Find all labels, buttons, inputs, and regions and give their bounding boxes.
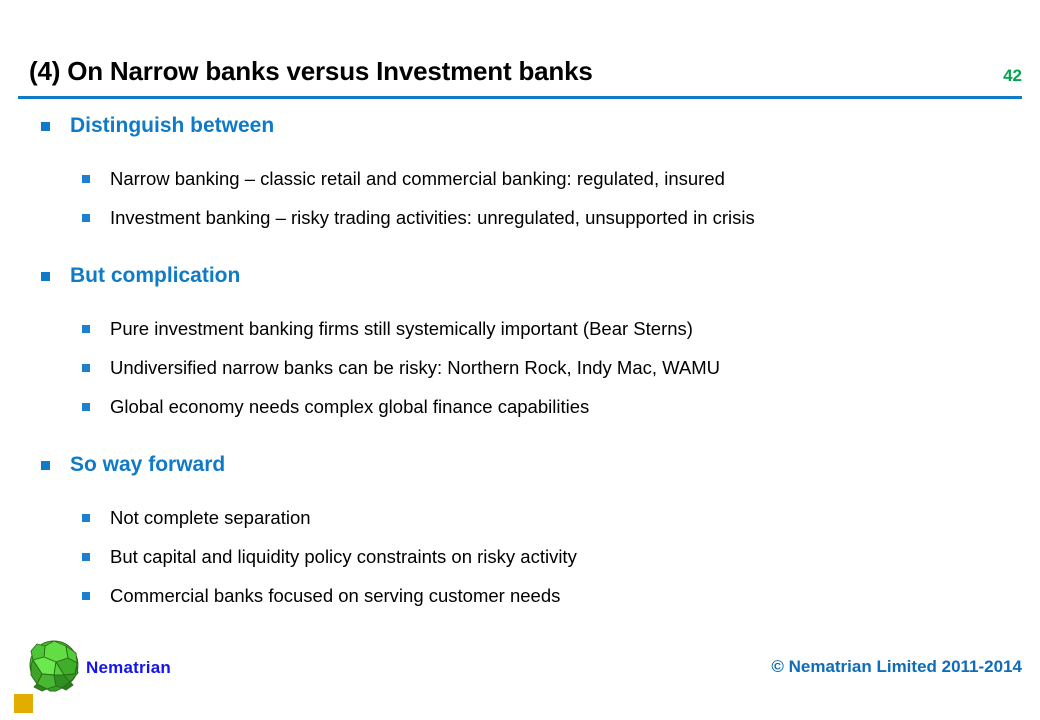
spacer [0,147,1040,159]
spacer [0,486,1040,498]
bullet-group: But complication Pure investment banking… [0,255,1040,426]
bullet-heading-label: But complication [70,264,240,287]
list-item-label: Undiversified narrow banks can be risky:… [110,357,720,378]
list-item: Investment banking – risky trading activ… [0,198,1040,237]
square-sub-bullet-icon [82,553,90,561]
list-item: Commercial banks focused on serving cust… [0,576,1040,615]
spacer [0,426,1040,444]
square-sub-bullet-icon [82,514,90,522]
spacer [0,297,1040,309]
square-sub-bullet-icon [82,175,90,183]
gold-square-icon [14,694,33,713]
title-divider [18,96,1022,99]
square-sub-bullet-icon [82,592,90,600]
bullet-group: So way forward Not complete separation B… [0,444,1040,615]
list-item-label: Pure investment banking firms still syst… [110,318,693,339]
list-item: Pure investment banking firms still syst… [0,309,1040,348]
square-bullet-icon [41,272,50,281]
list-item: Undiversified narrow banks can be risky:… [0,348,1040,387]
bullet-heading-label: Distinguish between [70,114,274,137]
bullet-group: Distinguish between Narrow banking – cla… [0,105,1040,237]
bullet-heading: So way forward [0,444,1040,486]
list-item: Not complete separation [0,498,1040,537]
slide-footer: Nematrian © Nematrian Limited 2011-2014 [0,625,1040,720]
copyright-notice: © Nematrian Limited 2011-2014 [771,657,1022,677]
list-item: But capital and liquidity policy constra… [0,537,1040,576]
square-bullet-icon [41,461,50,470]
bullet-heading: But complication [0,255,1040,297]
list-item-label: But capital and liquidity policy constra… [110,546,577,567]
bullet-heading: Distinguish between [0,105,1040,147]
list-item-label: Narrow banking – classic retail and comm… [110,168,725,189]
list-item-label: Commercial banks focused on serving cust… [110,585,560,606]
list-item-label: Global economy needs complex global fina… [110,396,589,417]
list-item: Narrow banking – classic retail and comm… [0,159,1040,198]
green-polyhedron-icon [26,637,82,693]
spacer [0,237,1040,255]
list-item-label: Not complete separation [110,507,311,528]
square-sub-bullet-icon [82,325,90,333]
list-item: Global economy needs complex global fina… [0,387,1040,426]
square-bullet-icon [41,122,50,131]
list-item-label: Investment banking – risky trading activ… [110,207,755,228]
square-sub-bullet-icon [82,364,90,372]
square-sub-bullet-icon [82,403,90,411]
slide-header: (4) On Narrow banks versus Investment ba… [0,0,1040,105]
page-number: 42 [976,66,1022,86]
square-sub-bullet-icon [82,214,90,222]
logo-wordmark: Nematrian [86,658,171,678]
page-title: (4) On Narrow banks versus Investment ba… [29,56,593,87]
bullet-heading-label: So way forward [70,453,225,476]
slide-body: Distinguish between Narrow banking – cla… [0,105,1040,625]
